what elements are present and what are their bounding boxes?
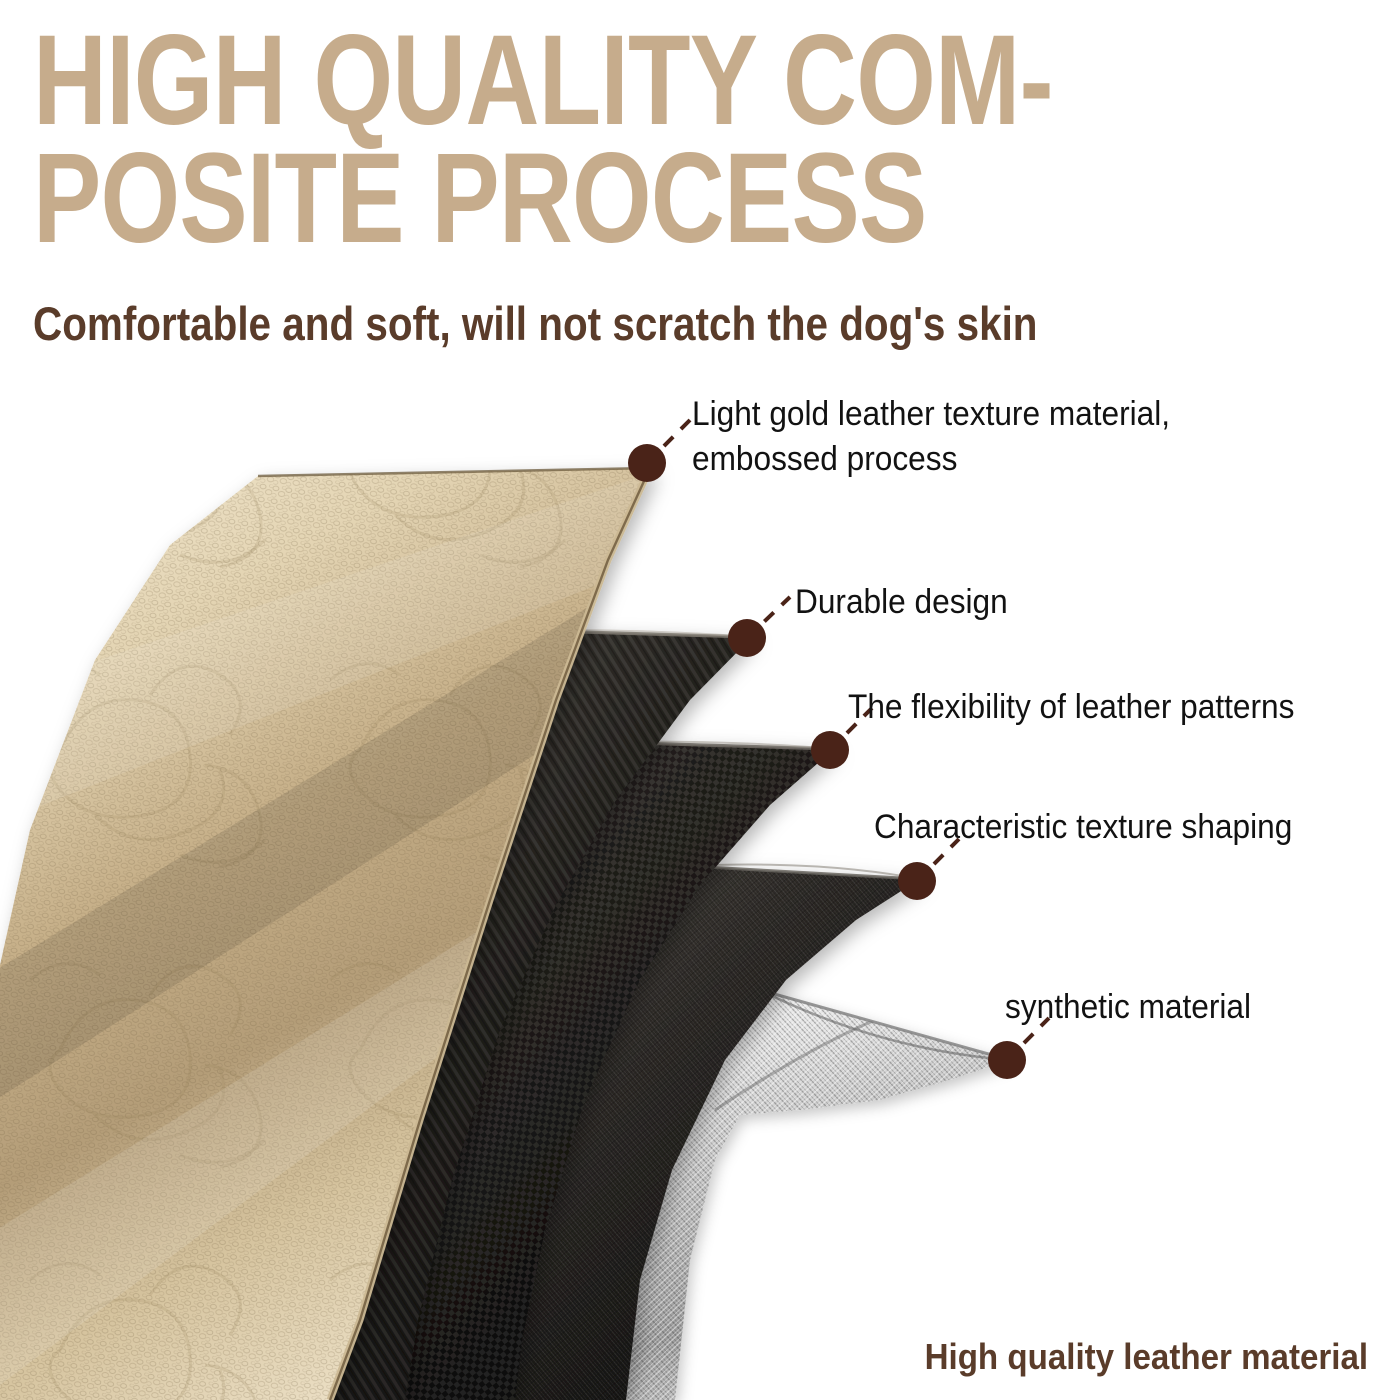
callout-label-synthetic-material: synthetic material [1005,985,1251,1030]
title-line-2: POSITE PROCESS [33,140,993,258]
callout-label-texture-shaping: Characteristic texture shaping [874,805,1292,850]
callout-label-light-gold-leather: Light gold leather texture material, emb… [692,392,1170,482]
callout-label-flexibility: The flexibility of leather patterns [848,685,1294,730]
page-title: HIGH QUALITY COM- POSITE PROCESS [33,22,1233,258]
footer-note: High quality leather material [924,1336,1368,1378]
infographic-canvas: HIGH QUALITY COM- POSITE PROCESS Comfort… [0,0,1400,1400]
title-line-1: HIGH QUALITY COM- [33,22,993,140]
callout-label-durable-design: Durable design [795,580,1008,625]
page-subtitle: Comfortable and soft, will not scratch t… [33,298,1038,350]
